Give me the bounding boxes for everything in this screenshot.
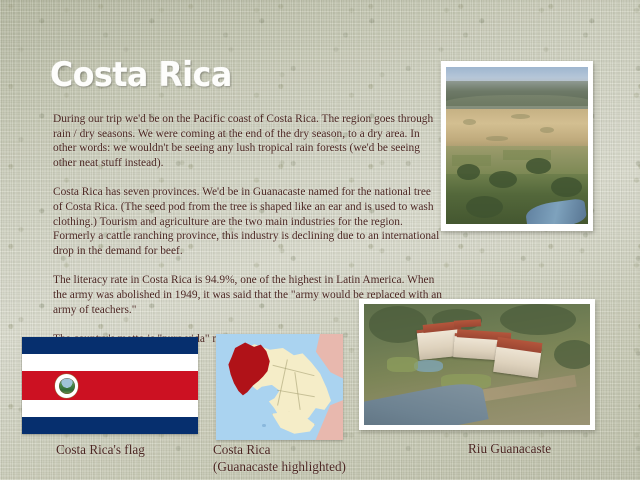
flag-stripe-white-bottom [22,400,198,417]
page-title: Costa Rica [50,55,232,95]
photo-plain-detail [540,127,554,133]
flag-stripe-white-top [22,354,198,371]
riu-lawn [387,357,419,372]
riu-roof [454,319,481,328]
landscape-photo [446,67,588,224]
photo-plain-detail [486,136,509,141]
photo-plain-detail [463,119,476,125]
costa-rica-flag [22,337,198,434]
map-island [262,424,266,427]
photo-plain-detail [511,114,529,119]
paragraph-2: Costa Rica has seven provinces. We'd be … [53,185,443,258]
flag-stripe-red [22,371,198,400]
caption-flag: Costa Rica's flag [56,442,145,459]
presentation-slide: Costa Rica During our trip we'd be on th… [0,0,640,480]
riu-photo-frame [359,299,595,430]
flag-stripe-blue-top [22,337,198,354]
landscape-photo-frame [441,61,593,231]
caption-map: Costa Rica (Guanacaste highlighted) [213,442,346,475]
coat-of-arms [55,374,78,397]
costa-rica-map [216,334,343,440]
photo-tree-cluster [457,164,480,180]
riu-photo [364,304,590,425]
photo-tree-cluster [489,171,517,188]
paragraph-1: During our trip we'd be on the Pacific c… [53,112,443,170]
coat-of-arms-emblem [59,378,76,395]
photo-tree-cluster [526,158,552,174]
photo-tree-cluster [466,196,503,218]
riu-pool [414,360,443,372]
flag-stripe-blue-bottom [22,417,198,434]
caption-riu: Riu Guanacaste [468,441,551,458]
